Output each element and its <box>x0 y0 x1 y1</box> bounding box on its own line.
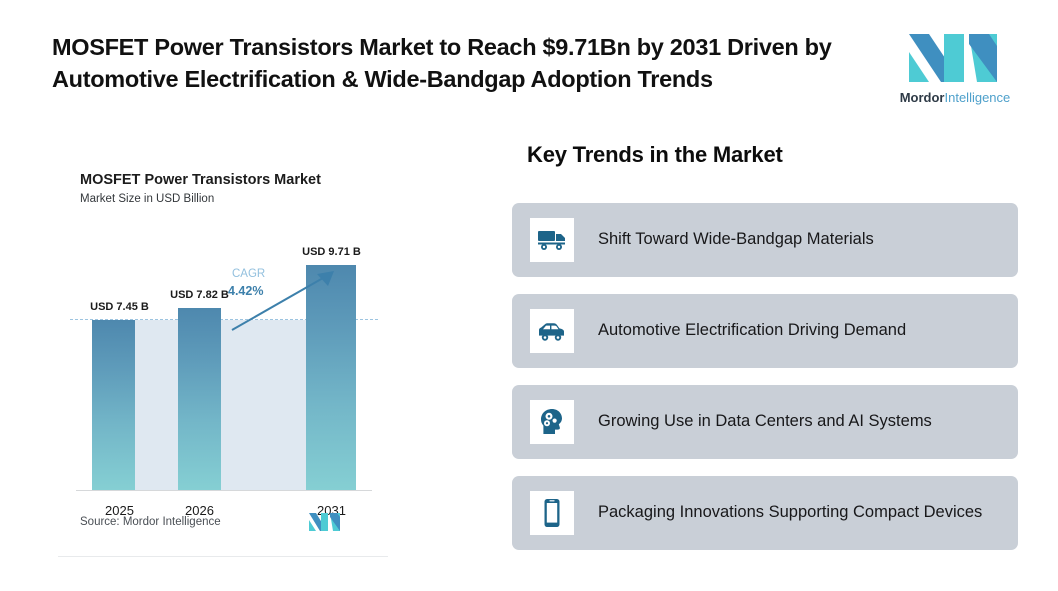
trend-card-wide-bandgap[interactable]: Shift Toward Wide-Bandgap Materials <box>512 203 1018 277</box>
cagr-growth-arrow-icon <box>230 260 350 335</box>
truck-icon <box>530 218 574 262</box>
bar-2026 <box>178 308 221 490</box>
chart-source-text: Source: Mordor Intelligence <box>80 516 221 528</box>
chart-plot-area: USD 7.45 B USD 7.82 B USD 9.71 B CAGR 4.… <box>80 252 368 490</box>
market-size-chart-panel: MOSFET Power Transistors Market Market S… <box>58 152 388 557</box>
trend-card-label: Packaging Innovations Supporting Compact… <box>598 502 982 524</box>
trend-card-automotive-electrification[interactable]: Automotive Electrification Driving Deman… <box>512 294 1018 368</box>
car-icon <box>530 309 574 353</box>
gap-fill-2 <box>221 320 306 490</box>
page-header: MOSFET Power Transistors Market to Reach… <box>0 0 1058 120</box>
smartphone-icon-glyph <box>543 498 561 528</box>
mordor-intelligence-logo: MordorIntelligence <box>895 30 1015 110</box>
trend-card-packaging-innovations[interactable]: Packaging Innovations Supporting Compact… <box>512 476 1018 550</box>
truck-icon-glyph <box>537 229 567 251</box>
key-trends-heading: Key Trends in the Market <box>527 142 783 168</box>
page-title: MOSFET Power Transistors Market to Reach… <box>52 32 872 96</box>
trend-card-label: Shift Toward Wide-Bandgap Materials <box>598 229 874 251</box>
brain-gears-icon <box>530 400 574 444</box>
trend-card-data-centers-ai[interactable]: Growing Use in Data Centers and AI Syste… <box>512 385 1018 459</box>
chart-title: MOSFET Power Transistors Market <box>80 172 321 188</box>
gap-fill-1 <box>135 320 178 490</box>
mordor-logo-wordmark: MordorIntelligence <box>895 90 1015 105</box>
chart-source-mordor-logo <box>308 512 342 532</box>
brand-name-bold: Mordor <box>900 90 945 105</box>
car-icon-glyph <box>537 320 567 342</box>
bar-value-label-2031: USD 9.71 B <box>282 246 381 258</box>
trend-card-label: Growing Use in Data Centers and AI Syste… <box>598 411 932 433</box>
mordor-logo-mark <box>907 30 1003 86</box>
bar-2025 <box>92 320 135 490</box>
brand-name-light: Intelligence <box>945 90 1011 105</box>
smartphone-icon <box>530 491 574 535</box>
bar-value-label-2025: USD 7.45 B <box>70 301 169 313</box>
chart-x-axis <box>76 490 372 491</box>
trend-card-label: Automotive Electrification Driving Deman… <box>598 320 906 342</box>
brain-gears-icon-glyph <box>539 408 565 436</box>
chart-subtitle: Market Size in USD Billion <box>80 193 214 205</box>
